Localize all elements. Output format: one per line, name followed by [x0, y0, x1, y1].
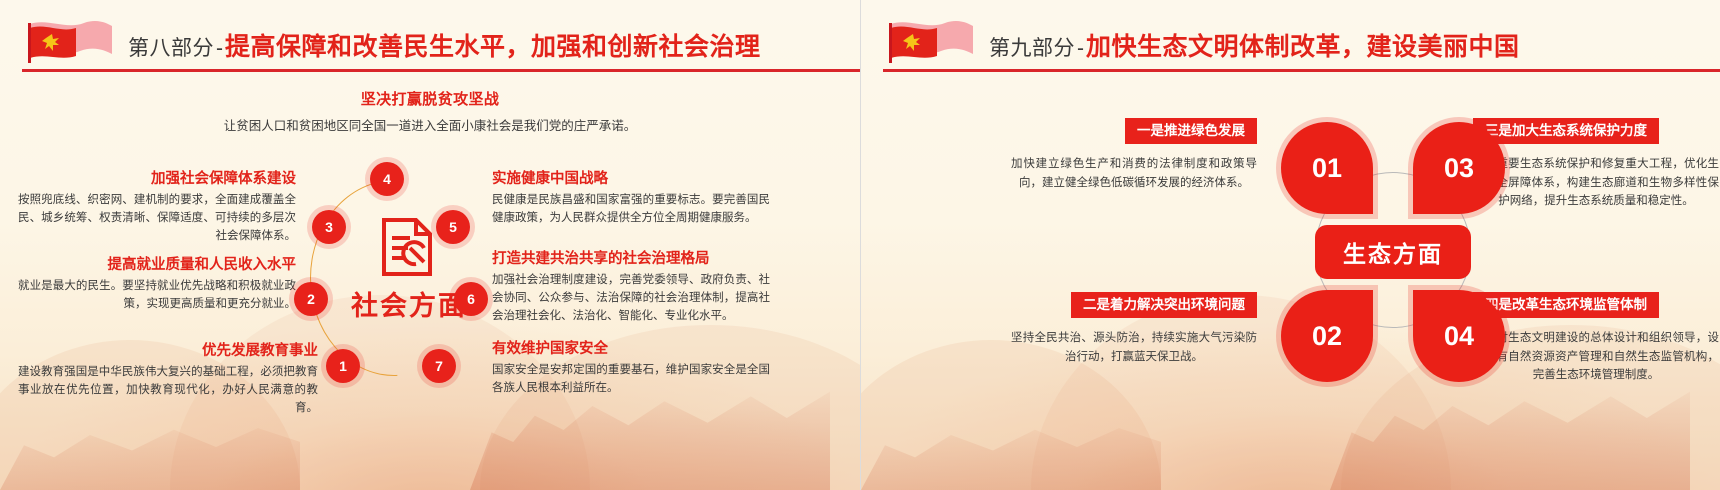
presentation-stage: 第八部分-提高保障和改善民生水平，加强和创新社会治理 坚决打赢脱贫攻坚战 让贫困…: [0, 0, 1720, 490]
block-title: 优先发展教育事业: [18, 342, 318, 360]
banner: 坚决打赢脱贫攻坚战 让贫困人口和贫困地区同全国一道进入全面小康社会是我们党的庄严…: [0, 88, 860, 134]
block-title: 有效维护国家安全: [492, 340, 770, 358]
petal-04[interactable]: 04: [1413, 290, 1505, 382]
header-text: 第九部分-加快生态文明体制改革，建设美丽中国: [989, 27, 1520, 63]
block-title: 加强社会保障体系建设: [18, 170, 296, 188]
banner-title: 坚决打赢脱贫攻坚战: [0, 88, 860, 109]
diagram-node-4[interactable]: 4: [370, 162, 404, 196]
party-flag-icon: [887, 18, 975, 66]
page-title: 提高保障和改善民生水平，加强和创新社会治理: [225, 33, 761, 61]
great-wall-silhouette: [1330, 370, 1690, 490]
block-body: 就业是最大的民生。要坚持就业优先战略和积极就业政策，实现更高质量和更充分就业。: [18, 278, 296, 314]
text-block-employment: 提高就业质量和人民收入水平 就业是最大的民生。要坚持就业优先战略和积极就业政策，…: [18, 256, 296, 314]
slide-header: 第九部分-加快生态文明体制改革，建设美丽中国: [861, 0, 1720, 78]
quadrant-body: 坚持全民共治、源头防治，持续实施大气污染防治行动，打赢蓝天保卫战。: [1011, 329, 1257, 366]
diagram-node-5[interactable]: 5: [436, 210, 470, 244]
block-body: 国家安全是安邦定国的重要基石，维护国家安全是全国各族人民根本利益所在。: [492, 362, 770, 398]
banner-subtitle: 让贫困人口和贫困地区同全国一道进入全面小康社会是我们党的庄严承诺。: [0, 115, 860, 134]
text-block-healthy-china: 实施健康中国战略 民健康是民族昌盛和国家富强的重要标志。要完善国民健康政策，为人…: [492, 170, 770, 228]
slide-section-nine: 第九部分-加快生态文明体制改革，建设美丽中国 一是推进绿色发展 加快建立绿色生产…: [860, 0, 1720, 490]
social-aspect-diagram: 社会方面 1 2 3 4 5 6 7: [286, 158, 502, 398]
party-flag-icon: [26, 18, 114, 66]
diagram-node-7[interactable]: 7: [422, 349, 456, 383]
quadrant-body: 加快建立绿色生产和消费的法律制度和政策导向，建立健全绿色低碳循环发展的经济体系。: [1011, 155, 1257, 192]
ecology-aspect-diagram: 01 03 02 04 生态方面: [1273, 122, 1513, 382]
petal-03[interactable]: 03: [1413, 122, 1505, 214]
header-part-label: 第八部分: [128, 37, 214, 60]
header-dash: -: [1075, 37, 1086, 60]
document-hammer-sickle-icon: [374, 214, 440, 280]
block-body: 按照兜底线、织密网、建机制的要求，全面建成覆盖全民、城乡统筹、权责清晰、保障适度…: [18, 192, 296, 245]
text-block-national-security: 有效维护国家安全 国家安全是安邦定国的重要基石，维护国家安全是全国各族人民根本利…: [492, 340, 770, 398]
block-title: 提高就业质量和人民收入水平: [18, 256, 296, 274]
text-block-education: 优先发展教育事业 建设教育强国是中华民族伟大复兴的基础工程，必须把教育事业放在优…: [18, 342, 318, 418]
great-wall-silhouette: [861, 404, 1161, 490]
header-divider: [883, 69, 1720, 72]
block-title: 打造共建共治共享的社会治理格局: [492, 250, 770, 268]
header-dash: -: [214, 37, 225, 60]
page-title: 加快生态文明体制改革，建设美丽中国: [1086, 33, 1520, 61]
text-block-social-security: 加强社会保障体系建设 按照兜底线、织密网、建机制的要求，全面建成覆盖全民、城乡统…: [18, 170, 296, 246]
diagram-node-1[interactable]: 1: [326, 349, 360, 383]
petal-01[interactable]: 01: [1281, 122, 1373, 214]
block-title: 实施健康中国战略: [492, 170, 770, 188]
quadrant-title-bar: 二是着力解决突出环境问题: [1071, 292, 1257, 318]
quadrant-title-bar: 一是推进绿色发展: [1125, 118, 1257, 144]
header-text: 第八部分-提高保障和改善民生水平，加强和创新社会治理: [128, 27, 761, 63]
quadrant-block-environment-problems: 二是着力解决突出环境问题 坚持全民共治、源头防治，持续实施大气污染防治行动，打赢…: [1011, 292, 1257, 366]
diagram-center-label: 生态方面: [1315, 225, 1471, 279]
petal-02[interactable]: 02: [1281, 290, 1373, 382]
header-divider: [22, 69, 860, 72]
header-part-label: 第九部分: [989, 37, 1075, 60]
diagram-node-2[interactable]: 2: [294, 282, 328, 316]
block-body: 建设教育强国是中华民族伟大复兴的基础工程，必须把教育事业放在优先位置，加快教育现…: [18, 364, 318, 417]
quadrant-block-green-development: 一是推进绿色发展 加快建立绿色生产和消费的法律制度和政策导向，建立健全绿色低碳循…: [1011, 118, 1257, 192]
block-body: 加强社会治理制度建设，完善党委领导、政府负责、社会协同、公众参与、法治保障的社会…: [492, 272, 770, 325]
diagram-node-6[interactable]: 6: [454, 282, 488, 316]
diagram-node-3[interactable]: 3: [312, 210, 346, 244]
text-block-social-governance: 打造共建共治共享的社会治理格局 加强社会治理制度建设，完善党委领导、政府负责、社…: [492, 250, 770, 326]
block-body: 民健康是民族昌盛和国家富强的重要标志。要完善国民健康政策，为人民群众提供全方位全…: [492, 192, 770, 228]
slide-section-eight: 第八部分-提高保障和改善民生水平，加强和创新社会治理 坚决打赢脱贫攻坚战 让贫困…: [0, 0, 860, 490]
slide-header: 第八部分-提高保障和改善民生水平，加强和创新社会治理: [0, 0, 860, 78]
